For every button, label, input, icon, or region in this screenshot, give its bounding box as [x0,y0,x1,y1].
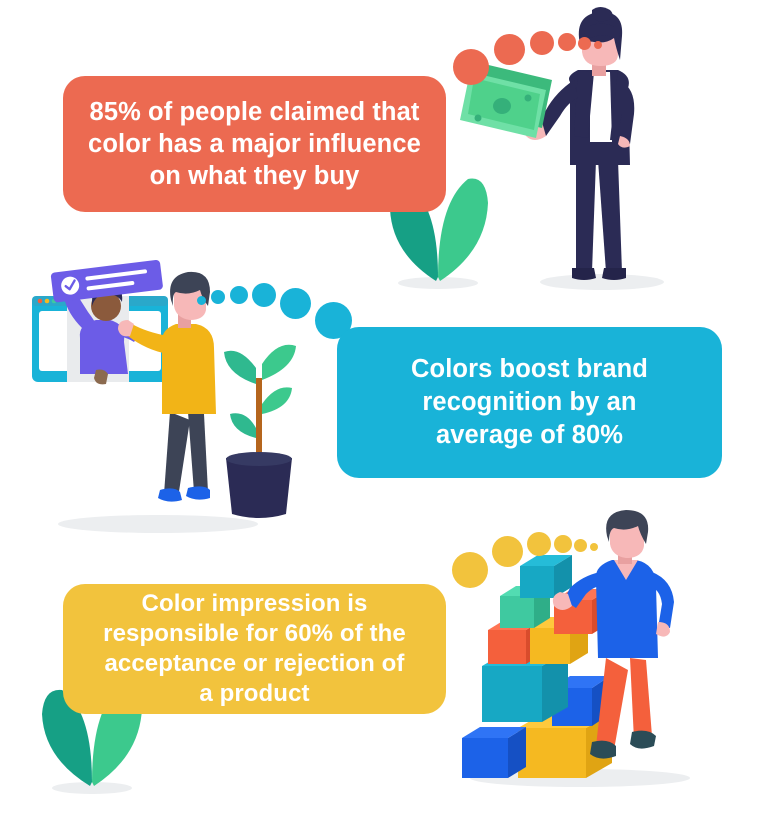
dot-arc-orange-2 [494,34,525,65]
dot-arc-yellow-2 [492,536,523,567]
cube-blue-bottom [462,727,526,778]
dot-arc-yellow-3 [527,532,551,556]
stat-card-acceptance-text: Color impression is responsible for 60% … [77,589,432,709]
woman-right-leg [598,160,622,272]
trousers-right [630,658,652,740]
stat-card-recognition[interactable]: Colors boost brand recognition by an ave… [337,327,722,478]
dot-arc-cyan-4 [252,283,276,307]
plant-pot-rim [226,452,292,466]
dot-arc-yellow-6 [590,543,598,551]
leaf-shadow [398,277,478,289]
shoe-right [630,731,656,749]
dot-arc-yellow-4 [554,535,572,553]
potted-plant [224,345,296,518]
woman-left-leg [576,160,596,272]
right-shoe [186,486,210,499]
dot-arc-yellow-1 [452,552,488,588]
woman-shirt [590,72,612,142]
infographic-root: 85% of people claimed that color has a m… [0,0,768,831]
figure-shadow [540,274,664,290]
plant-leaf-top-left [224,351,256,384]
trousers-left [596,658,628,750]
dot-arc-orange-6 [594,41,602,49]
plant-stem [256,378,262,462]
plant-leaf-mid-right [262,387,292,414]
traffic-light-red [38,299,43,304]
dot-arc-cyan-1 [197,296,206,305]
plant-leaf-mid-left [230,413,256,438]
stat-card-influence[interactable]: 85% of people claimed that color has a m… [63,76,446,212]
cube-top-teal [520,555,572,598]
stat-card-influence-text: 85% of people claimed that color has a m… [77,96,432,192]
stat-card-acceptance[interactable]: Color impression is responsible for 60% … [63,584,446,714]
traffic-light-yellow [45,299,50,304]
shoe-left [590,741,616,759]
woman-right-shoe [602,268,626,280]
dot-arc-orange-1 [453,49,489,85]
dot-arc-orange-4 [558,33,576,51]
dot-arc-orange-3 [530,31,554,55]
dot-arc-orange-5 [578,37,591,50]
plant-pot [226,458,292,518]
woman-left-shoe [572,268,596,280]
dot-arc-yellow-5 [574,539,587,552]
dot-arc-cyan-2 [211,290,225,304]
dot-arc-cyan-3 [230,286,248,304]
plant-leaf-top-right [262,345,296,380]
stat-card-recognition-text: Colors boost brand recognition by an ave… [359,353,700,452]
dot-arc-cyan-5 [280,288,311,319]
leaf-shadow [52,782,132,794]
scene-shadow [58,515,258,533]
